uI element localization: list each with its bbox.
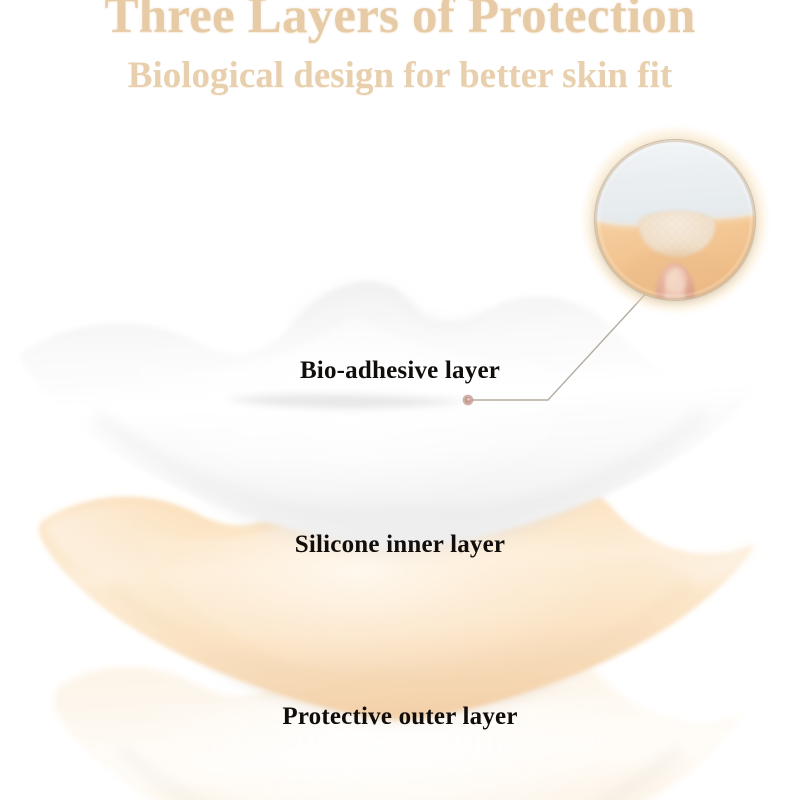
infographic-canvas: Three Layers of Protection Biological de… [0,0,800,800]
title-container: Three Layers of Protection [0,0,800,44]
magnifier-disc [594,139,756,301]
layer-label-protective-outer: Protective outer layer [0,703,800,731]
layer-label-silicone-inner: Silicone inner layer [0,531,800,559]
layer-label-bio-adhesive: Bio-adhesive layer [0,357,800,385]
subtitle-container: Biological design for better skin fit [0,54,800,98]
magnifier-inset [594,139,756,301]
page-title: Three Layers of Protection [0,0,800,44]
page-subtitle: Biological design for better skin fit [0,54,800,98]
